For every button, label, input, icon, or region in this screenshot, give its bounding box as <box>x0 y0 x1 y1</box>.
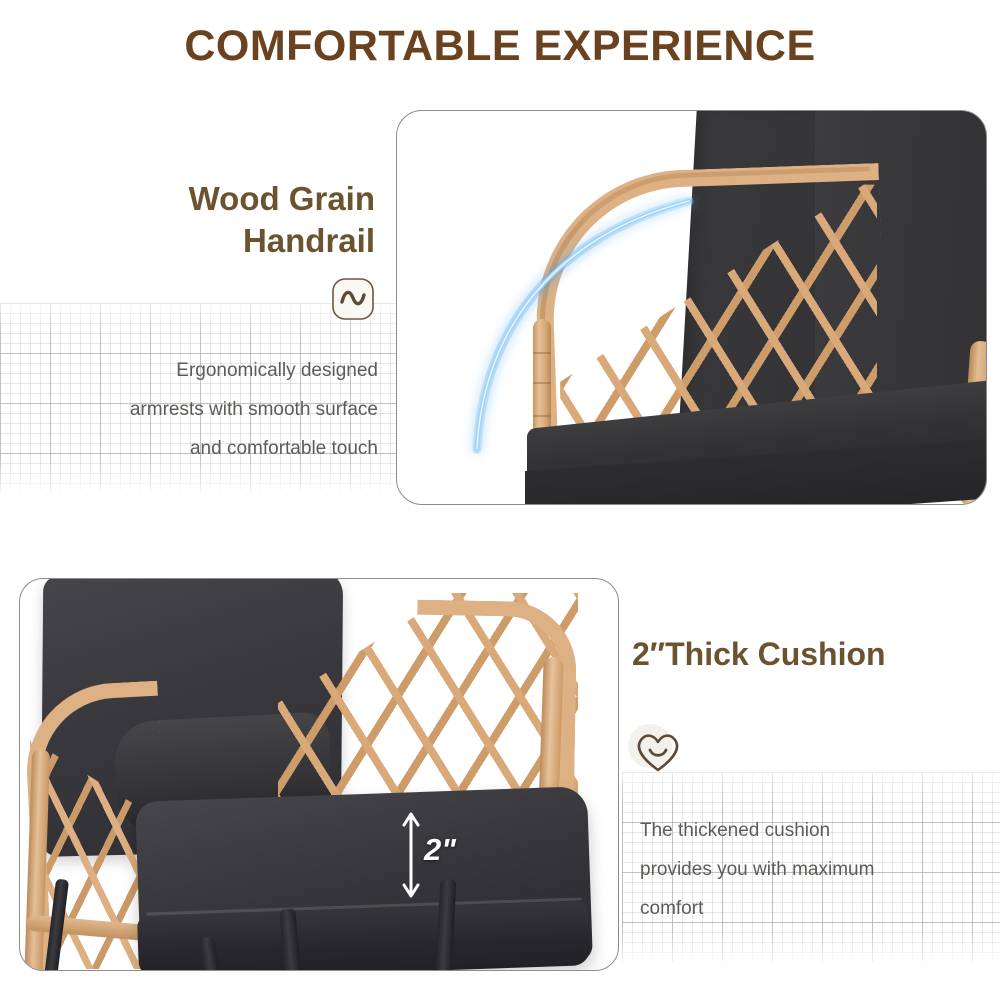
photo-panel-cushion <box>19 578 619 971</box>
heart-smile-icon <box>632 726 684 778</box>
page-title: COMFORTABLE EXPERIENCE <box>0 22 1000 71</box>
feature-body-line3: comfort <box>640 898 703 919</box>
infographic-stage: COMFORTABLE EXPERIENCE <box>0 0 1000 1000</box>
feature-heading-line1: Wood Grain <box>189 180 375 217</box>
feature-body-line3: and comfortable touch <box>190 438 378 459</box>
feature-body-line1: The thickened cushion <box>640 820 830 841</box>
chair-photo-scene <box>20 579 618 970</box>
feature-heading-cushion: 2″Thick Cushion <box>632 634 982 675</box>
wave-icon <box>330 276 376 322</box>
feature-body-handrail: Ergonomically designed armrests with smo… <box>10 352 378 469</box>
feature-body-line2: provides you with maximum <box>640 859 874 880</box>
armrest-photo-scene <box>397 111 986 504</box>
feature-heading-handrail: Wood Grain Handrail <box>20 178 375 262</box>
feature-body-line1: Ergonomically designed <box>176 360 378 381</box>
feature-body-cushion: The thickened cushion provides you with … <box>640 812 980 929</box>
dimension-label: 2" <box>424 832 456 868</box>
feature-heading-line2: Handrail <box>243 222 375 259</box>
feature-body-line2: armrests with smooth surface <box>130 399 378 420</box>
dimension-arrow-icon <box>398 806 424 904</box>
photo-panel-armrest <box>396 110 987 505</box>
